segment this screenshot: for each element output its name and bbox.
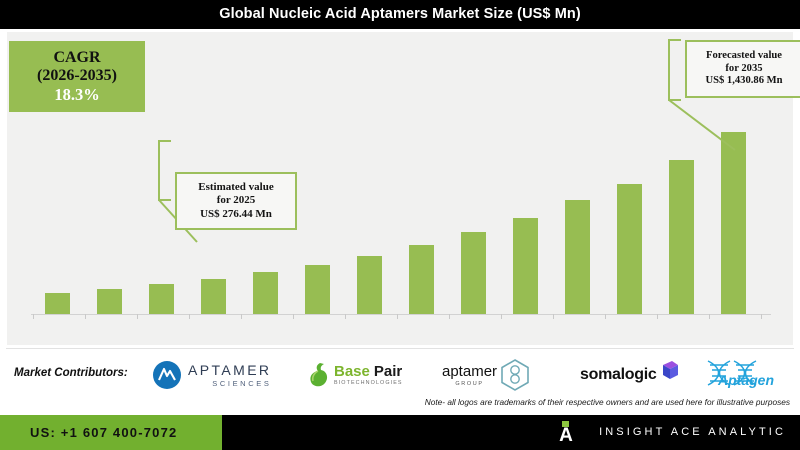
callout-forecast-2035: Forecasted value for 2035 US$ 1,430.86 M… xyxy=(685,40,800,98)
logo-aptagen-name: Aptagen xyxy=(717,372,774,388)
x-tick xyxy=(345,314,346,319)
aptagen-dna-icon: Aptagen xyxy=(700,358,784,392)
trademark-note: Note- all logos are trademarks of their … xyxy=(396,397,790,407)
somalogic-mark-icon xyxy=(658,358,682,384)
bar-2028[interactable] xyxy=(357,256,382,314)
infographic-root: Global Nucleic Acid Aptamers Market Size… xyxy=(0,0,800,450)
bar-2031[interactable] xyxy=(513,218,538,314)
x-tick xyxy=(137,314,138,319)
x-tick xyxy=(501,314,502,319)
aptamer-group-hexagon-icon xyxy=(500,359,530,391)
header-bar: Global Nucleic Acid Aptamers Market Size… xyxy=(0,0,800,29)
bar-2027[interactable] xyxy=(305,265,330,314)
logo-aptamer-sciences-name: APTAMER xyxy=(188,363,271,377)
x-tick xyxy=(293,314,294,319)
x-tick xyxy=(241,314,242,319)
bar-2026[interactable] xyxy=(253,272,278,314)
logo-aptamer-sciences: APTAMER SCIENCES xyxy=(152,355,271,395)
logo-base-pair-sub: BIOTECHNOLOGIES xyxy=(334,380,403,386)
callout-estimated-2025: Estimated value for 2025 US$ 276.44 Mn xyxy=(175,172,297,230)
callout-estimated-line2: for 2025 xyxy=(217,194,256,207)
insight-ace-logo: A xyxy=(554,421,578,445)
logo-aptamer-group-sub: GROUP xyxy=(442,381,497,387)
x-tick xyxy=(657,314,658,319)
x-tick xyxy=(397,314,398,319)
cagr-period: (2026-2035) xyxy=(37,67,117,85)
logo-aptagen: Aptagen xyxy=(700,355,784,395)
logo-aptamer-group: aptamer GROUP xyxy=(442,355,530,395)
cagr-label: CAGR xyxy=(53,49,100,67)
x-tick xyxy=(709,314,710,319)
contributors-band: Market Contributors: APTAMER SCIENCES Ba… xyxy=(6,349,794,415)
contributors-label: Market Contributors: xyxy=(14,367,128,379)
callout-forecast-line1: Forecasted value xyxy=(706,50,782,63)
logo-aptamer-sciences-sub: SCIENCES xyxy=(188,379,271,388)
x-tick xyxy=(33,314,34,319)
bar-2034[interactable] xyxy=(669,160,694,314)
logo-somalogic: somalogic xyxy=(580,355,682,395)
x-tick xyxy=(553,314,554,319)
logo-base-pair: Base Pair BIOTECHNOLOGIES xyxy=(305,355,403,395)
bar-2033[interactable] xyxy=(617,184,642,314)
chart-panel: CAGR (2026-2035) 18.3% Estimated value f… xyxy=(6,31,794,346)
bar-2022[interactable] xyxy=(45,293,70,314)
logo-base-pair-word1: Base xyxy=(334,364,370,379)
bar-2035[interactable] xyxy=(721,132,746,314)
footer-phone[interactable]: US: +1 607 400-7072 xyxy=(30,415,177,450)
x-tick xyxy=(605,314,606,319)
x-axis-line xyxy=(31,314,771,315)
aptamer-sciences-icon xyxy=(152,360,182,390)
bar-chart-plot: CAGR (2026-2035) 18.3% Estimated value f… xyxy=(7,32,795,347)
callout-forecast-line3: US$ 1,430.86 Mn xyxy=(705,75,782,88)
logo-base-pair-word2: Pair xyxy=(374,364,402,379)
callout-forecast-line2: for 2035 xyxy=(725,63,762,76)
cagr-box: CAGR (2026-2035) 18.3% xyxy=(9,41,145,112)
bar-2025[interactable] xyxy=(201,279,226,314)
footer-bar: US: +1 607 400-7072 A INSIGHT ACE ANALYT… xyxy=(0,415,800,450)
x-tick xyxy=(761,314,762,319)
logo-aptamer-group-name: aptamer xyxy=(442,364,497,379)
x-tick xyxy=(189,314,190,319)
bar-2030[interactable] xyxy=(461,232,486,314)
logo-somalogic-name: somalogic xyxy=(580,367,656,383)
callout-estimated-line1: Estimated value xyxy=(198,181,273,194)
page-title: Global Nucleic Acid Aptamers Market Size… xyxy=(0,0,800,29)
x-tick xyxy=(85,314,86,319)
cagr-value: 18.3% xyxy=(54,85,99,104)
bar-2023[interactable] xyxy=(97,289,122,314)
bar-2032[interactable] xyxy=(565,200,590,314)
x-tick xyxy=(449,314,450,319)
callout-estimated-line3: US$ 276.44 Mn xyxy=(200,208,272,221)
bar-2029[interactable] xyxy=(409,245,434,314)
base-pair-pear-icon xyxy=(305,360,331,390)
bar-2024[interactable] xyxy=(149,284,174,314)
footer-brand: INSIGHT ACE ANALYTIC xyxy=(599,415,786,450)
insight-ace-logo-letter: A xyxy=(554,427,578,445)
